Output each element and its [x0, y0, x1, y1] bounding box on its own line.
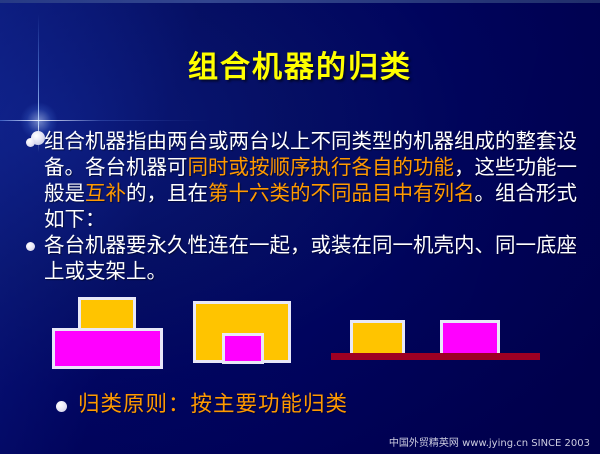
bullet-text-1: 组合机器指由两台或两台以上不同类型的机器组成的整套设备。各台机器可同时或按顺序执… [44, 128, 586, 232]
bullet-1-seg-3: 互补 [85, 181, 126, 205]
footer-since: SINCE 2003 [531, 438, 590, 449]
bullet-marker-icon [26, 242, 35, 251]
conclusion-bullet: 归类原则：按主要功能归类 [56, 392, 476, 418]
bullet-marker-icon [26, 138, 35, 147]
bullet-1-seg-5: 第十六类的不同品目中有列名 [208, 181, 475, 205]
bullet-item-1: 组合机器指由两台或两台以上不同类型的机器组成的整套设备。各台机器可同时或按顺序执… [26, 128, 586, 232]
footer-url: www.jying.cn [462, 438, 528, 449]
bullet-text-2: 各台机器要永久性连在一起，或装在同一机壳内、同一底座上或支架上。 [44, 232, 586, 284]
bullet-item-2: 各台机器要永久性连在一起，或装在同一机壳内、同一底座上或支架上。 [26, 232, 586, 284]
bullet-marker-icon [56, 401, 67, 412]
top-border-strip [0, 0, 600, 3]
footer-site-name: 中国外贸精英网 [389, 438, 459, 449]
conclusion-text: 归类原则：按主要功能归类 [78, 392, 348, 418]
footer-watermark: 中国外贸精英网 www.jying.cn SINCE 2003 [389, 434, 590, 449]
slide-title: 组合机器的归类 [0, 50, 600, 86]
bullet-1-seg-4: 的，且在 [126, 181, 208, 205]
slide: 组合机器的归类 组合机器指由两台或两台以上不同类型的机器组成的整套设备。各台机器… [0, 0, 600, 454]
accent-horizontal-line [0, 120, 210, 121]
bullet-1-seg-1: 同时或按顺序执行各自的功能 [188, 155, 455, 179]
